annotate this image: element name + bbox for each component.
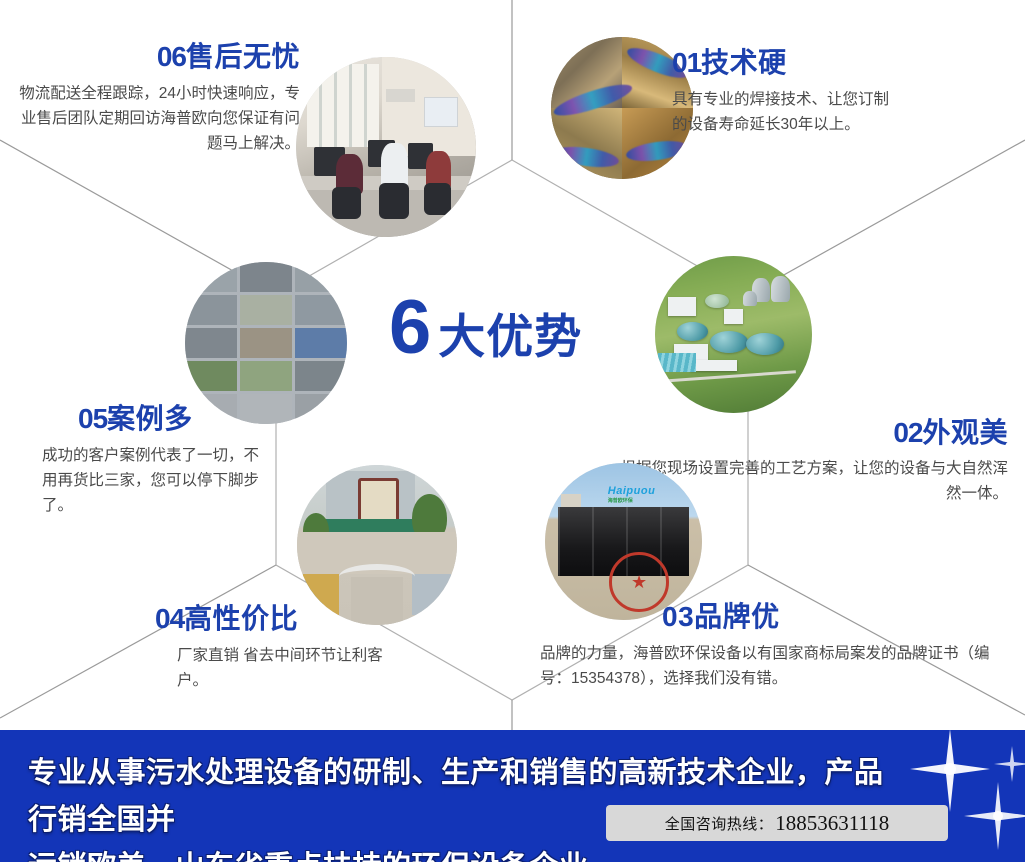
- hotline-label: 全国咨询热线：: [665, 813, 774, 834]
- feature-01-title: 01技术硬: [672, 48, 932, 79]
- feature-04-number: 04: [155, 603, 184, 634]
- feature-01-number: 01: [672, 47, 701, 78]
- infographic-page: 6 大优势 06售后无忧 物流配送全程跟踪，24小时快速响应，专业售后团队定期回…: [0, 0, 1025, 862]
- feature-04-title-text: 高性价比: [184, 603, 298, 634]
- feature-05-title-text: 案例多: [107, 403, 193, 434]
- feature-05-title: 05案例多: [20, 404, 288, 435]
- banner-line-2: 远销欧美，山东省重点扶持的环保设备企业。: [28, 844, 898, 862]
- center-number: 6: [389, 294, 429, 362]
- feature-05-desc: 成功的客户案例代表了一切，不用再货比三家，您可以停下脚步了。: [20, 443, 270, 518]
- sparkle-decoration: [880, 730, 1025, 862]
- feature-03: 04 03品牌优 品牌的力量，海普欧环保设备以有国家商标局案发的品牌证书（编号：…: [540, 602, 1010, 691]
- feature-02-number: 02: [893, 417, 922, 448]
- feature-03-desc: 品牌的力量，海普欧环保设备以有国家商标局案发的品牌证书（编号：15354378）…: [540, 641, 1008, 691]
- feature-06: 06售后无忧 物流配送全程跟踪，24小时快速响应，专业售后团队定期回访海普欧向您…: [18, 42, 300, 156]
- feature-06-title-text: 售后无忧: [186, 41, 300, 72]
- feature-06-title: 06售后无忧: [18, 42, 300, 73]
- feature-06-desc: 物流配送全程跟踪，24小时快速响应，专业售后团队定期回访海普欧向您保证有问题马上…: [18, 81, 300, 156]
- feature-03-title: 04 03品牌优: [540, 602, 1010, 633]
- feature-06-number: 06: [157, 41, 186, 72]
- feature-photo-06: [296, 57, 476, 237]
- feature-01-title-text: 技术硬: [701, 47, 787, 78]
- bottom-banner: 专业从事污水处理设备的研制、生产和销售的高新技术企业，产品行销全国并 远销欧美，…: [0, 730, 1025, 862]
- feature-photo-04: [297, 465, 457, 625]
- hotline-box[interactable]: 全国咨询热线： 18853631118: [606, 805, 948, 841]
- hotline-number: 18853631118: [775, 811, 889, 836]
- feature-04-desc: 厂家直销 省去中间环节让利客户。: [155, 643, 407, 693]
- center-label: 6 大优势: [389, 294, 582, 367]
- feature-04-title: 04高性价比: [155, 604, 475, 635]
- feature-01-desc: 具有专业的焊接技术、让您订制的设备寿命延长30年以上。: [672, 87, 900, 137]
- feature-02-title: 02外观美: [620, 418, 1008, 449]
- feature-04: 04高性价比 厂家直销 省去中间环节让利客户。: [155, 604, 475, 693]
- feature-03-label: 03品牌优: [662, 601, 780, 632]
- feature-01: 01技术硬 具有专业的焊接技术、让您订制的设备寿命延长30年以上。: [672, 48, 932, 137]
- feature-photo-02: [655, 256, 812, 413]
- feature-photo-05: [185, 262, 347, 424]
- feature-photo-03: Haipuou 海普欧环保 ★: [545, 463, 702, 620]
- center-text: 大优势: [438, 298, 582, 367]
- photo-watermark-03: Haipuou 海普欧环保: [608, 485, 656, 504]
- feature-05: 05案例多 成功的客户案例代表了一切，不用再货比三家，您可以停下脚步了。: [20, 404, 288, 518]
- feature-05-number: 05: [78, 403, 107, 434]
- feature-02-title-text: 外观美: [922, 417, 1008, 448]
